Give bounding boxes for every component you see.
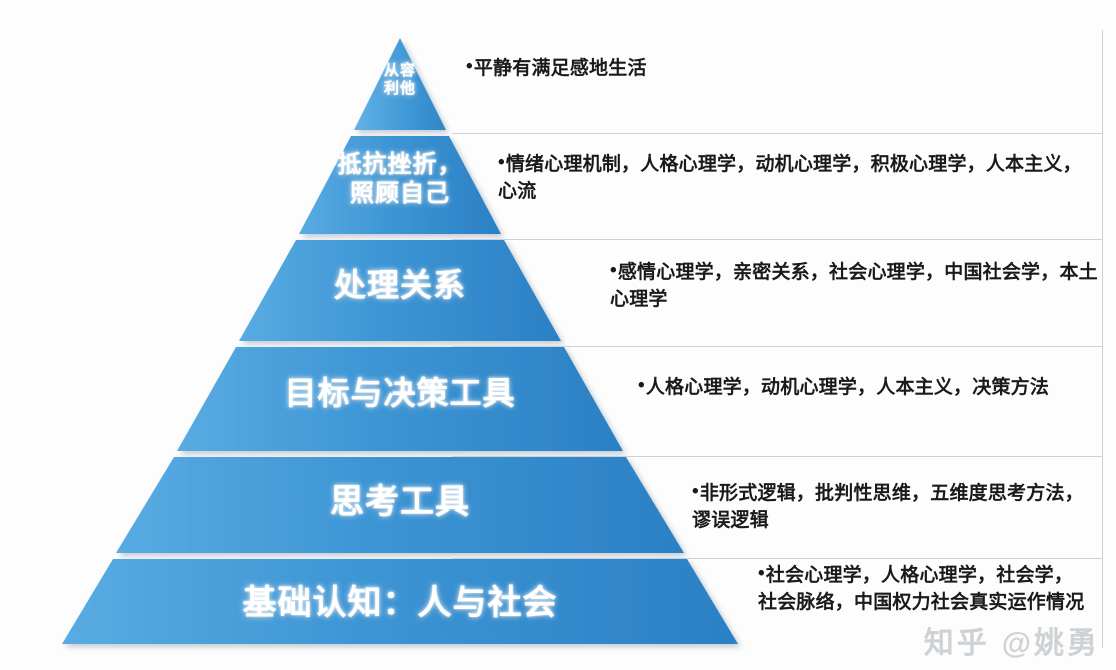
detail-row-3: •感情心理学，亲密关系，社会心理学，中国社会学，本土心理学 bbox=[452, 240, 1102, 347]
detail-bullet-5: •非形式逻辑，批判性思维，五维度思考方法，谬误逻辑 bbox=[692, 481, 1092, 535]
detail-panel: •平静有满足感地生活 •情绪心理机制，人格心理学，动机心理学，积极心理学，人本主… bbox=[452, 30, 1103, 648]
bullet-dot-icon: • bbox=[498, 152, 505, 173]
detail-bullet-1: •平静有满足感地生活 bbox=[466, 56, 1090, 83]
detail-bullet-6: •社会心理学，人格心理学，社会学，社会脉络，中国权力社会真实运作情况 bbox=[758, 563, 1092, 617]
detail-bullet-4: •人格心理学，动机心理学，人本主义，决策方法 bbox=[638, 375, 1090, 402]
bullet-dot-icon: • bbox=[466, 56, 473, 77]
detail-bullet-3-text: 感情心理学，亲密关系，社会心理学，中国社会学，本土心理学 bbox=[610, 262, 1098, 310]
detail-row-6: •社会心理学，人格心理学，社会学，社会脉络，中国权力社会真实运作情况 bbox=[452, 559, 1102, 648]
detail-bullet-2: •情绪心理机制，人格心理学，动机心理学，积极心理学，人本主义，心流 bbox=[498, 152, 1098, 206]
detail-bullet-4-text: 人格心理学，动机心理学，人本主义，决策方法 bbox=[646, 377, 1049, 398]
detail-row-1: •平静有满足感地生活 bbox=[452, 30, 1102, 134]
detail-bullet-1-text: 平静有满足感地生活 bbox=[474, 58, 647, 79]
detail-bullet-2-text: 情绪心理机制，人格心理学，动机心理学，积极心理学，人本主义，心流 bbox=[498, 154, 1082, 202]
detail-row-4: •人格心理学，动机心理学，人本主义，决策方法 bbox=[452, 347, 1102, 457]
detail-row-5: •非形式逻辑，批判性思维，五维度思考方法，谬误逻辑 bbox=[452, 457, 1102, 559]
bullet-dot-icon: • bbox=[638, 375, 645, 396]
bullet-dot-icon: • bbox=[610, 260, 617, 281]
bullet-dot-icon: • bbox=[758, 563, 765, 584]
detail-row-2: •情绪心理机制，人格心理学，动机心理学，积极心理学，人本主义，心流 bbox=[452, 134, 1102, 240]
pyramid-tier-1-shape[interactable] bbox=[354, 38, 446, 130]
detail-bullet-5-text: 非形式逻辑，批判性思维，五维度思考方法，谬误逻辑 bbox=[692, 483, 1084, 531]
detail-bullet-6-text: 社会心理学，人格心理学，社会学，社会脉络，中国权力社会真实运作情况 bbox=[758, 565, 1084, 613]
pyramid-diagram-canvas: 从容 利他 抵抗挫折， 照顾自己 处理关系 目标与决策工具 思考工具 基础认知：… bbox=[0, 0, 1116, 670]
bullet-dot-icon: • bbox=[692, 481, 699, 502]
detail-bullet-3: •感情心理学，亲密关系，社会心理学，中国社会学，本土心理学 bbox=[610, 260, 1100, 314]
